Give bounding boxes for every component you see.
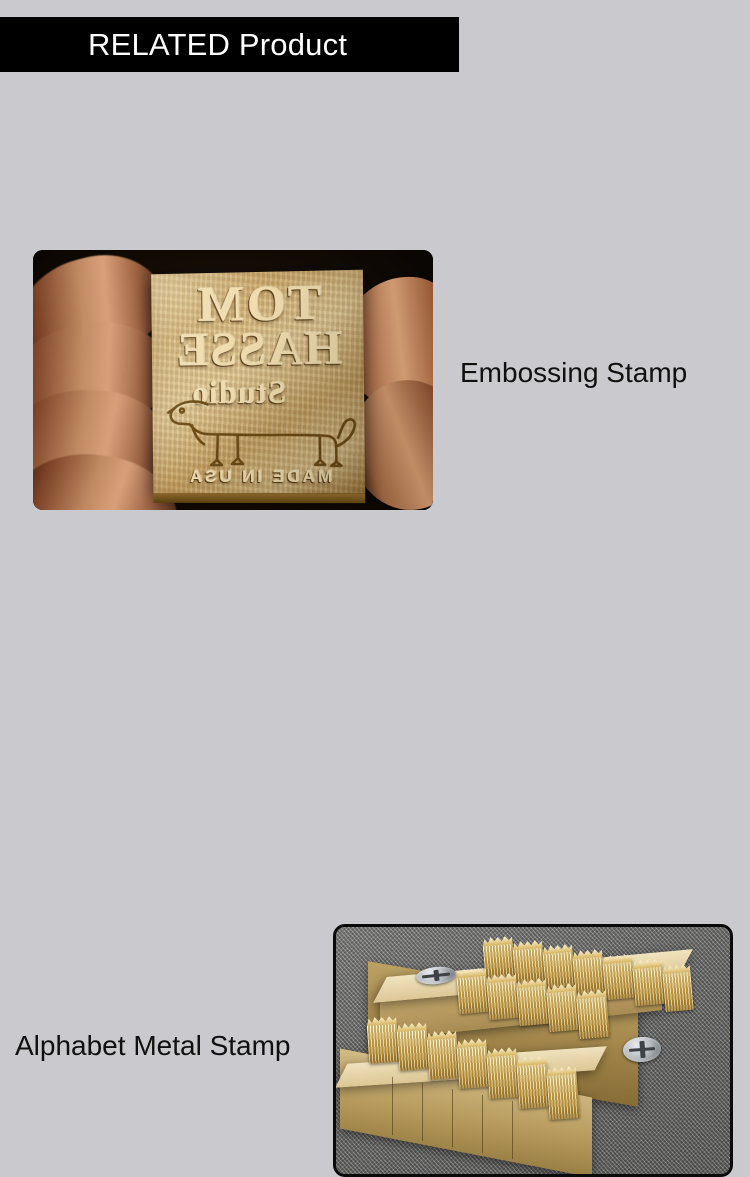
- product-label-alphabet-metal-stamp: Alphabet Metal Stamp: [15, 1032, 291, 1060]
- holder-seam: [452, 1089, 453, 1147]
- brass-letter-die: [457, 1044, 490, 1089]
- brass-letter-die: [516, 1062, 549, 1109]
- brass-letter-die: [427, 1036, 460, 1080]
- alphabet-metal-stamp-photo[interactable]: [333, 924, 733, 1177]
- holder-seam: [392, 1077, 393, 1135]
- brass-letter-die: [546, 1072, 579, 1120]
- product-row-alphabet-metal-stamp: Alphabet Metal Stamp: [0, 462, 750, 716]
- product-label-embossing-stamp: Embossing Stamp: [460, 359, 687, 387]
- brass-letter-die: [516, 984, 549, 1026]
- brass-letter-die: [367, 1022, 400, 1064]
- brass-letter-die: [513, 946, 546, 983]
- engraved-text-line-2: HASSE: [161, 324, 355, 375]
- brass-letter-die: [483, 942, 516, 978]
- brass-letter-die: [542, 950, 575, 988]
- brass-letter-die: [576, 995, 610, 1039]
- brass-letter-die: [397, 1028, 430, 1071]
- brass-stamp-die: TOM HASSE Studio: [151, 270, 365, 494]
- holder-seam: [512, 1101, 513, 1159]
- brass-letter-die: [602, 960, 635, 1000]
- brass-letter-die: [572, 955, 605, 994]
- brass-letter-die: [456, 974, 489, 1014]
- brass-letter-die: [546, 989, 579, 1032]
- related-product-banner: RELATED Product: [0, 17, 459, 72]
- page-title: RELATED Product: [88, 29, 347, 60]
- product-row-embossing-stamp: TOM HASSE Studio: [0, 125, 750, 387]
- screw-slot: [433, 969, 439, 981]
- screw-slot: [639, 1041, 645, 1058]
- holder-seam: [422, 1083, 423, 1141]
- brass-letter-die: [486, 979, 519, 1020]
- holder-seam: [482, 1095, 483, 1153]
- brass-letter-die: [632, 965, 665, 1006]
- alphabet-metal-stamp-scene: [336, 927, 730, 1174]
- brass-letter-die: [662, 970, 693, 1012]
- brass-letter-die: [487, 1053, 520, 1099]
